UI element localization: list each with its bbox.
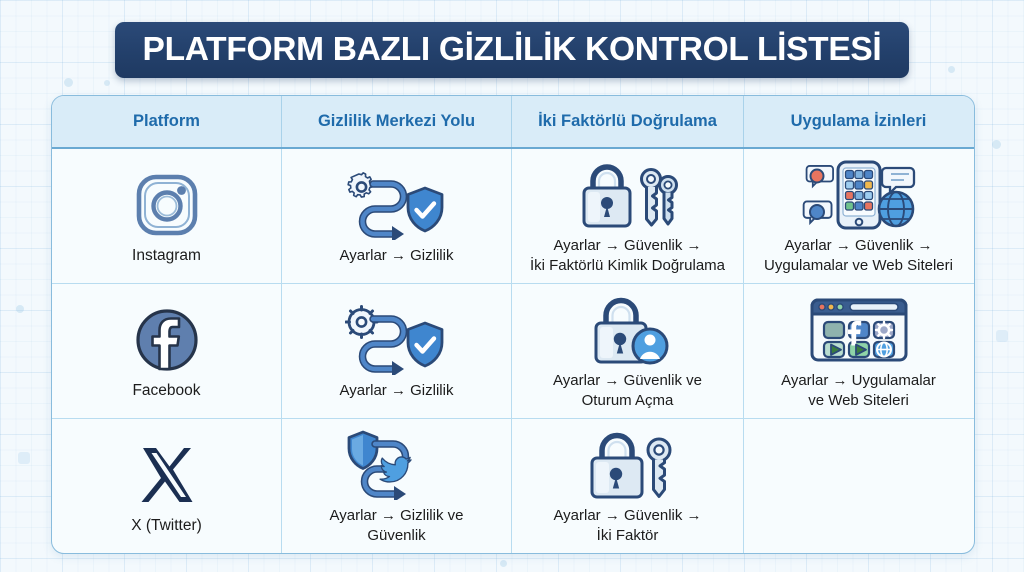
background-decor-dot xyxy=(16,305,24,313)
column-header-platform: Platform xyxy=(52,96,282,147)
shield-arrow-bird-icon xyxy=(345,427,449,503)
table-row: X (Twitter) Ayarlar → Gizlilik ve Güvenl… xyxy=(52,419,974,553)
background-decor-dot xyxy=(64,78,73,87)
table-header-row: Platform Gizlilik Merkezi Yolu İki Faktö… xyxy=(52,96,974,149)
background-decor-square xyxy=(18,452,30,464)
cell-two-factor-x-twitter: Ayarlar → Güvenlik → İki Faktör xyxy=(512,419,744,553)
app-permissions-line1: Ayarlar → Uygulamalar xyxy=(781,371,936,390)
platform-name: X (Twitter) xyxy=(131,516,202,536)
gear-arrow-shield-icon xyxy=(345,302,449,378)
x-logo-icon xyxy=(135,437,199,513)
cell-platform-instagram: Instagram xyxy=(52,149,282,283)
column-header-privacy-path: Gizlilik Merkezi Yolu xyxy=(282,96,512,147)
privacy-path-line1: Ayarlar → Gizlilik ve xyxy=(330,506,464,525)
padlock-keys-icon xyxy=(573,157,683,233)
background-decor-dot xyxy=(992,140,1001,149)
cell-platform-x-twitter: X (Twitter) xyxy=(52,419,282,553)
two-factor-line2: İki Faktör xyxy=(597,526,659,545)
cell-privacy-path-x-twitter: Ayarlar → Gizlilik ve Güvenlik xyxy=(282,419,512,553)
padlock-user-icon xyxy=(580,292,676,368)
background-decor-square xyxy=(996,330,1008,342)
two-factor-line2: İki Faktörlü Kimlik Doğrulama xyxy=(530,256,725,275)
column-header-app-permissions: Uygulama İzinleri xyxy=(744,96,973,147)
page-title-banner: PLATFORM BAZLI GİZLİLİK KONTROL LİSTESİ xyxy=(115,22,909,78)
background-decor-dot xyxy=(500,560,507,567)
privacy-path-text: Ayarlar → Gizlilik xyxy=(340,381,454,400)
privacy-path-text: Ayarlar → Gizlilik xyxy=(340,246,454,265)
page-title: PLATFORM BAZLI GİZLİLİK KONTROL LİSTESİ xyxy=(143,31,882,69)
platform-name: Facebook xyxy=(132,381,200,401)
background-decor-dot xyxy=(104,80,110,86)
cell-privacy-path-instagram: Ayarlar → Gizlilik xyxy=(282,149,512,283)
background-decor-dot xyxy=(948,66,955,73)
smartphone-apps-globe-icon xyxy=(800,157,918,233)
app-permissions-line1: Ayarlar → Güvenlik → xyxy=(784,236,932,255)
cell-app-permissions-instagram: Ayarlar → Güvenlik → Uygulamalar ve Web … xyxy=(744,149,973,283)
two-factor-line1: Ayarlar → Güvenlik ve xyxy=(553,371,702,390)
platform-name: Instagram xyxy=(132,246,201,266)
privacy-checklist-table: Platform Gizlilik Merkezi Yolu İki Faktö… xyxy=(51,95,975,554)
instagram-logo-icon xyxy=(134,167,200,243)
facebook-logo-icon xyxy=(134,302,200,378)
cell-platform-facebook: Facebook xyxy=(52,284,282,418)
privacy-path-line2: Güvenlik xyxy=(367,526,425,545)
cell-two-factor-instagram: Ayarlar → Güvenlik → İki Faktörlü Kimlik… xyxy=(512,149,744,283)
table-row: Instagram Ayarlar → Gizlilik xyxy=(52,149,974,284)
table-row: Facebook xyxy=(52,284,974,419)
two-factor-line1: Ayarlar → Güvenlik → xyxy=(553,506,701,525)
cell-app-permissions-facebook: Ayarlar → Uygulamalar ve Web Siteleri xyxy=(744,284,973,418)
two-factor-line1: Ayarlar → Güvenlik → xyxy=(553,236,701,255)
cell-two-factor-facebook: Ayarlar → Güvenlik ve Oturum Açma xyxy=(512,284,744,418)
padlock-key-icon xyxy=(580,427,676,503)
browser-app-grid-icon xyxy=(805,292,913,368)
app-permissions-line2: Uygulamalar ve Web Siteleri xyxy=(764,256,953,275)
app-permissions-line2: ve Web Siteleri xyxy=(808,391,909,410)
column-header-two-factor: İki Faktörlü Doğrulama xyxy=(512,96,744,147)
cell-app-permissions-x-twitter xyxy=(744,419,973,553)
two-factor-line2: Oturum Açma xyxy=(582,391,674,410)
gear-arrow-shield-icon xyxy=(345,167,449,243)
cell-privacy-path-facebook: Ayarlar → Gizlilik xyxy=(282,284,512,418)
